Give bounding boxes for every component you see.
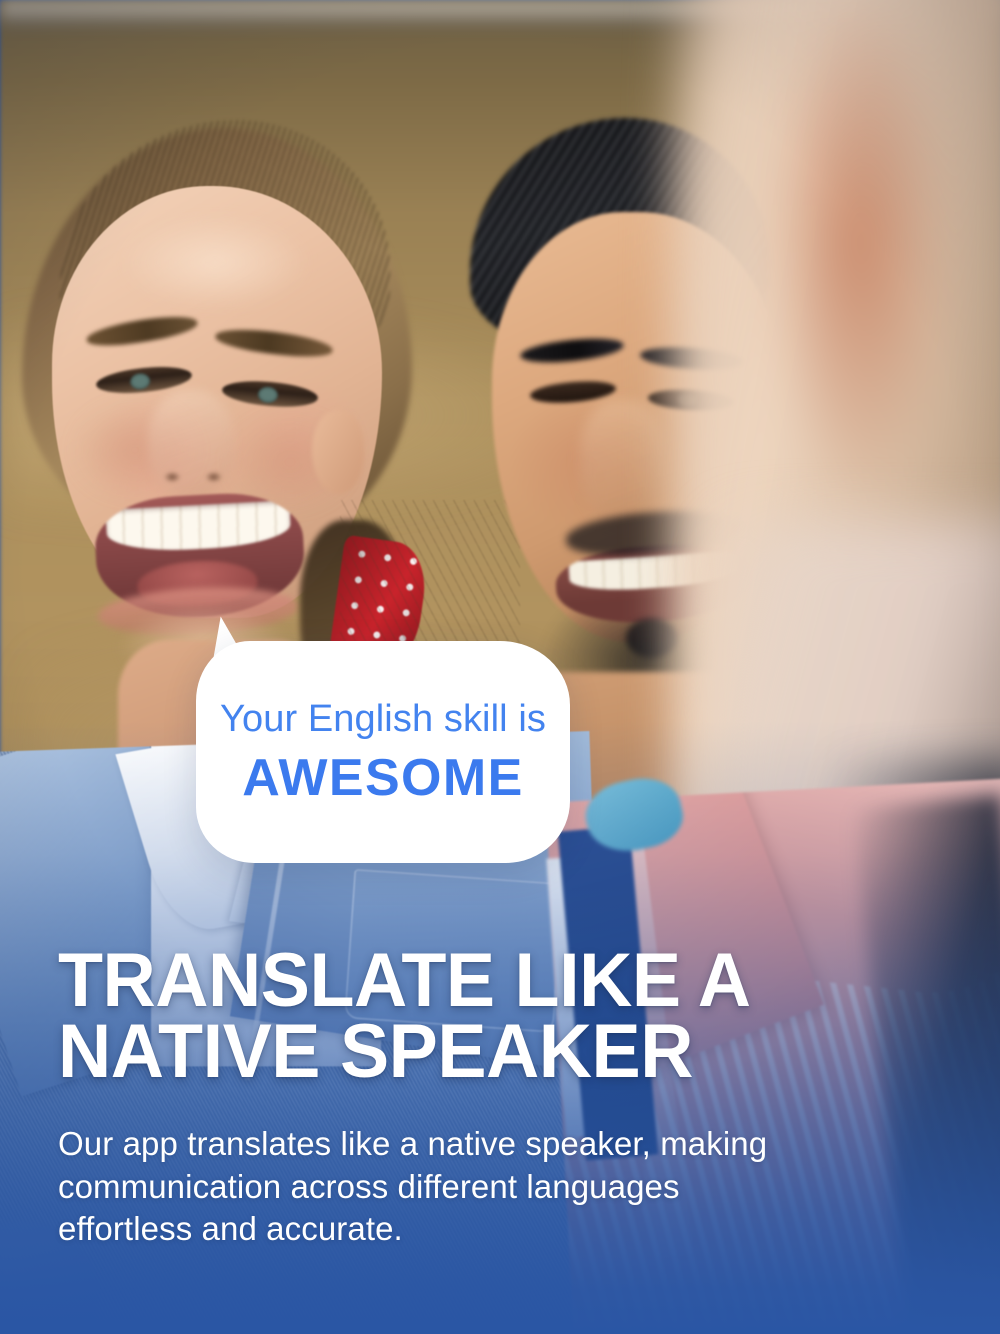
woman-ear xyxy=(312,410,364,494)
woman-nostrils xyxy=(156,468,230,486)
speech-bubble-content: Your English skill is AWESOME xyxy=(196,641,570,863)
page-title: TRANSLATE LIKE A NATIVE SPEAKER xyxy=(58,946,931,1087)
speech-bubble: Your English skill is AWESOME xyxy=(196,641,570,863)
body-description: Our app translates like a native speaker… xyxy=(58,1123,928,1250)
headline-line-2: NATIVE SPEAKER xyxy=(58,1017,931,1088)
copy-block: TRANSLATE LIKE A NATIVE SPEAKER Our app … xyxy=(58,946,958,1250)
body-line-3: effortless and accurate. xyxy=(58,1208,928,1250)
poster-canvas: Your English skill is AWESOME TRANSLATE … xyxy=(0,0,1000,1334)
speech-bubble-line-1: Your English skill is xyxy=(220,700,546,738)
speech-bubble-line-2: AWESOME xyxy=(242,752,523,804)
body-line-2: communication across different languages xyxy=(58,1166,928,1208)
woman-teeth xyxy=(105,500,291,554)
headline-line-1: TRANSLATE LIKE A xyxy=(58,946,931,1017)
body-line-1: Our app translates like a native speaker… xyxy=(58,1123,928,1165)
woman-forehead-highlight xyxy=(120,215,310,310)
